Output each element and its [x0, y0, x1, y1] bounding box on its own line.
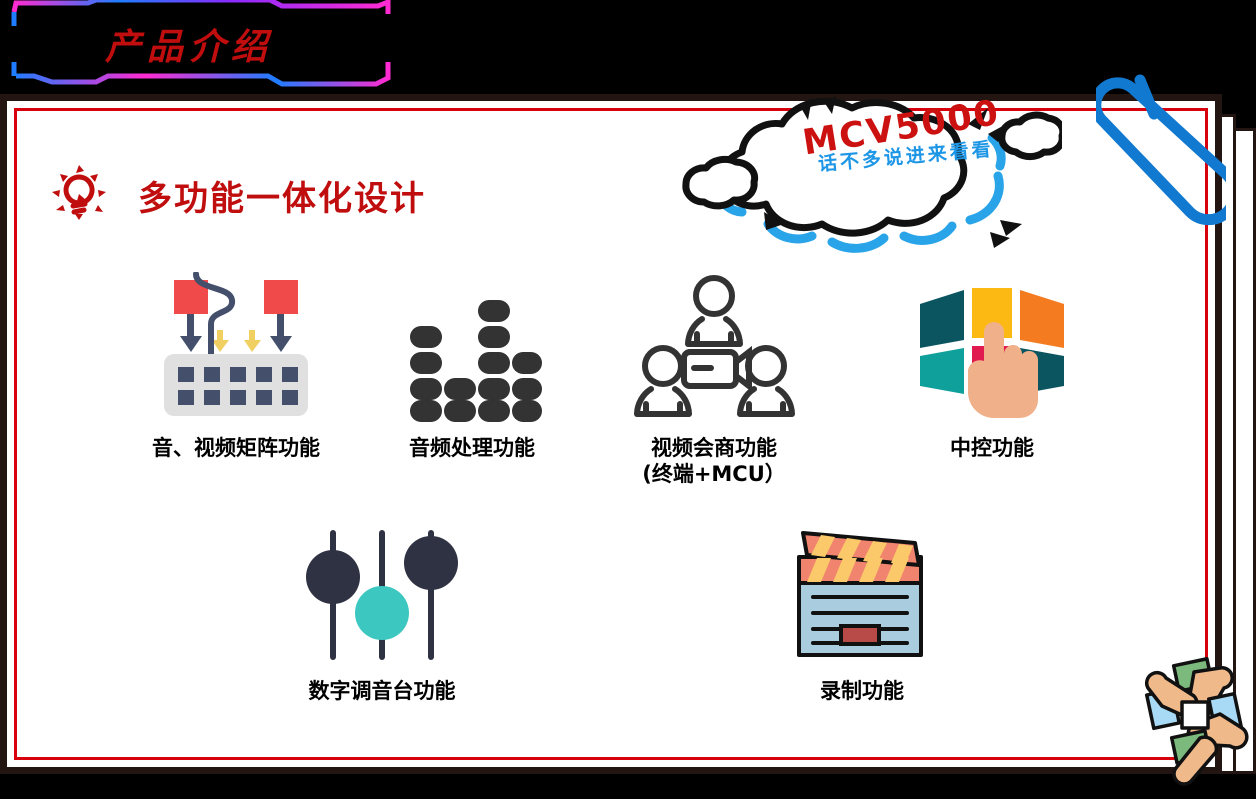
title-banner: 产品介绍 — [0, 0, 400, 92]
video-conference-icon — [594, 272, 834, 422]
feature-item-audio[interactable]: 音频处理功能 — [352, 272, 592, 462]
matrix-icon — [116, 272, 356, 422]
feature-item-matrix[interactable]: 音、视频矩阵功能 — [116, 272, 356, 462]
feature-label-audio: 音频处理功能 — [352, 436, 592, 462]
teamwork-hands-icon — [1136, 652, 1256, 799]
page-title: 产品介绍 — [105, 18, 273, 70]
feature-label-control: 中控功能 — [872, 436, 1112, 462]
mixer-slider-icon — [262, 515, 502, 665]
feature-label-matrix: 音、视频矩阵功能 — [116, 436, 356, 462]
lightbulb-icon — [46, 160, 112, 231]
feature-label-video: 视频会商功能 (终端+MCU） — [594, 436, 834, 487]
feature-item-control[interactable]: 中控功能 — [872, 272, 1112, 462]
feature-item-record[interactable]: 录制功能 — [742, 515, 982, 705]
section-title-text: 多功能一体化设计 — [138, 171, 426, 220]
feature-label-mixer: 数字调音台功能 — [262, 679, 502, 705]
paperclip-icon — [1096, 62, 1226, 267]
equalizer-icon — [352, 272, 592, 422]
feature-item-video[interactable]: 视频会商功能 (终端+MCU） — [594, 272, 834, 487]
central-control-icon — [872, 272, 1112, 422]
section-heading: 多功能一体化设计 — [46, 160, 426, 231]
feature-label-record: 录制功能 — [742, 679, 982, 705]
feature-item-mixer[interactable]: 数字调音台功能 — [262, 515, 502, 705]
speech-bubble: MCV5000 话不多说进来看看 — [672, 96, 1062, 266]
clapperboard-icon — [742, 515, 982, 665]
